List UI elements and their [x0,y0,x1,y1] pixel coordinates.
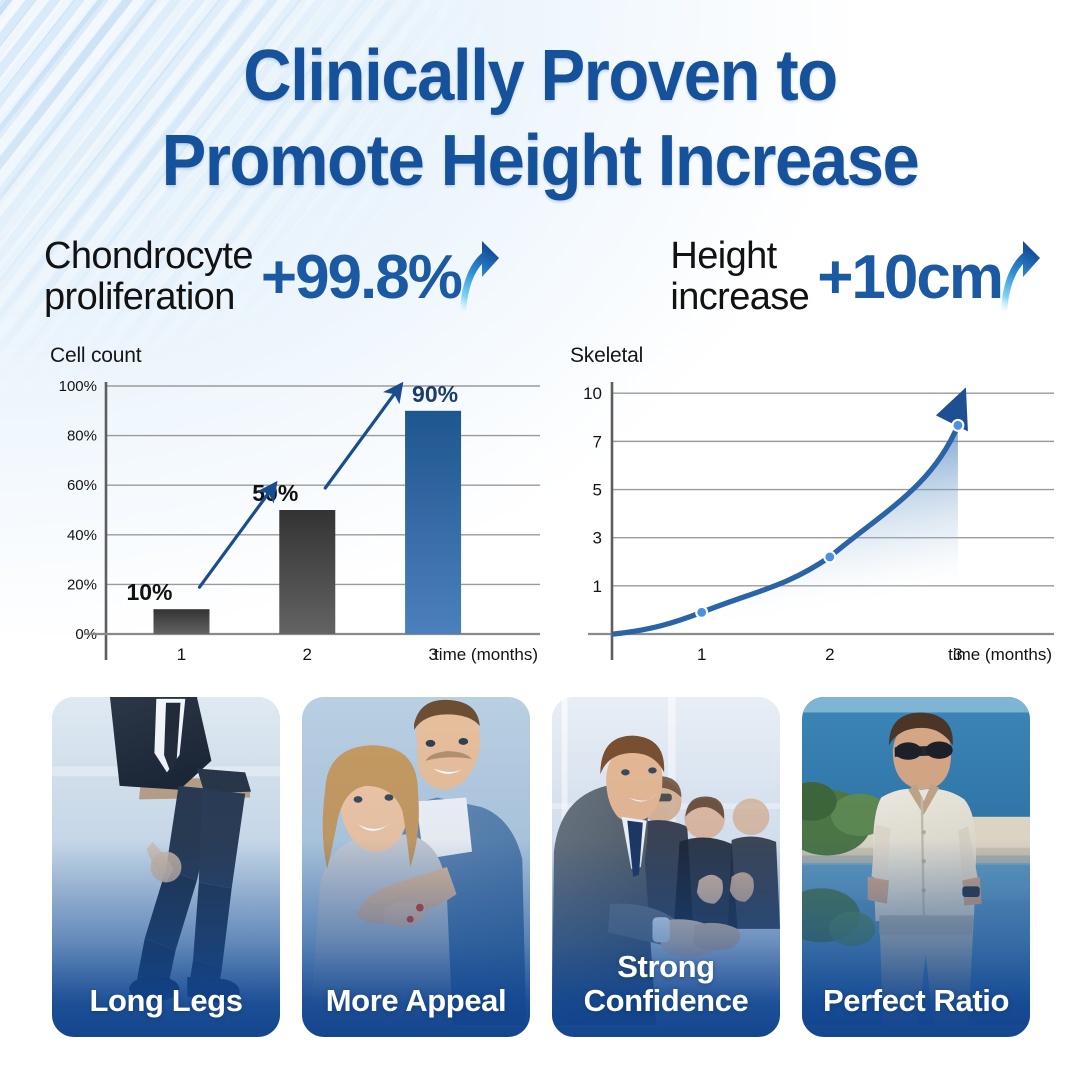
chart-title: Skeletal [570,344,1064,368]
stat-height-increase: Height increase +10cm [670,236,1046,318]
svg-text:7: 7 [593,432,602,451]
svg-text:90%: 90% [412,381,458,407]
area-chart-canvas: 135710 123time (months) [564,372,1064,672]
stat-chondrocyte-proliferation: Chondrocyte proliferation +99.8% [44,236,505,318]
benefit-card-strong-confidence[interactable]: Strong Confidence [552,697,780,1037]
svg-text:60%: 60% [67,477,97,494]
svg-text:10%: 10% [126,579,172,605]
arrow-up-icon [1000,241,1046,313]
chart-title: Cell count [50,344,554,368]
chart-cell-count: Cell count 0%20%40%60%80%100% 10%50%90% [44,344,554,674]
svg-text:40%: 40% [67,527,97,544]
svg-text:10: 10 [583,384,602,403]
svg-text:1: 1 [593,577,602,596]
svg-text:time (months): time (months) [948,645,1052,664]
svg-text:2: 2 [303,645,312,664]
svg-text:1: 1 [697,645,706,664]
benefit-card-long-legs[interactable]: Long Legs [52,697,280,1037]
svg-text:80%: 80% [67,428,97,445]
area-chart-series [614,387,968,634]
card-label: More Appeal [302,984,530,1019]
svg-text:100%: 100% [59,378,97,395]
benefit-card-perfect-ratio[interactable]: Perfect Ratio [802,697,1030,1037]
stat-label: Chondrocyte proliferation [44,236,253,318]
bar-chart-bars [153,411,461,634]
card-label: Perfect Ratio [802,984,1030,1019]
svg-text:2: 2 [825,645,834,664]
svg-text:20%: 20% [67,576,97,593]
stat-value: +99.8% [261,242,461,313]
arrow-up-icon [459,241,505,313]
promo-page: Clinically Proven to Promote Height Incr… [0,0,1080,1080]
bar-chart-x-axis: 123time (months) [177,645,538,664]
page-title: Clinically Proven to Promote Height Incr… [38,34,1042,204]
benefit-card-row: Long Legs [52,697,1030,1037]
chart-skeletal: Skeletal 135710 123time (months) [564,344,1064,674]
headline-line-1: Clinically Proven to [38,34,1042,119]
bar-chart-canvas: 0%20%40%60%80%100% 10%50%90% 123time (mo… [44,372,554,672]
svg-text:time (months): time (months) [434,645,538,664]
svg-text:3: 3 [593,529,602,548]
card-label: Strong Confidence [552,950,780,1019]
stat-label: Height increase [670,236,809,318]
headline-line-2: Promote Height Increase [38,119,1042,204]
svg-text:1: 1 [177,645,186,664]
benefit-card-more-appeal[interactable]: More Appeal [302,697,530,1037]
stat-value: +10cm [817,242,1002,313]
stat-row: Chondrocyte proliferation +99.8% Height … [44,236,1046,318]
card-label: Long Legs [52,984,280,1019]
svg-text:5: 5 [593,481,602,500]
area-chart-x-axis: 123time (months) [697,645,1052,664]
